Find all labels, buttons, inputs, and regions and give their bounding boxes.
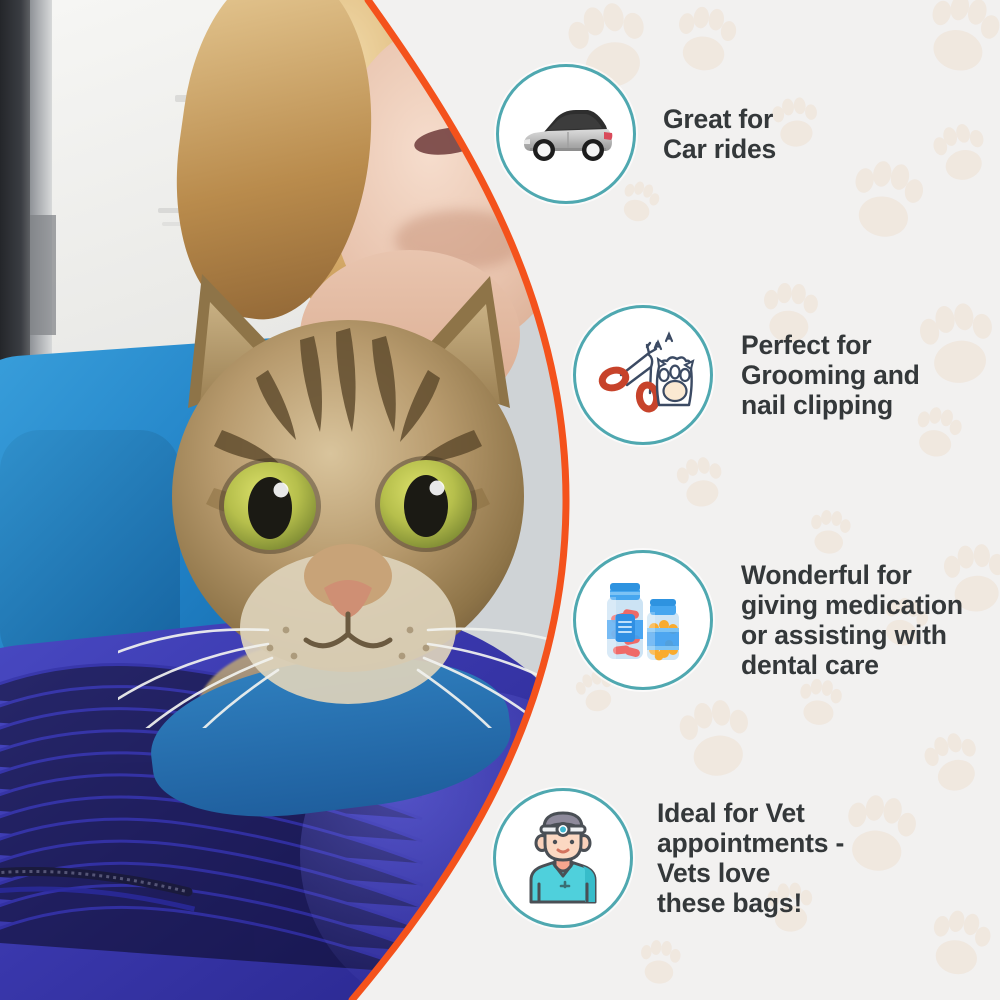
pill-bottles-icon xyxy=(591,568,695,672)
feature-icon-circle xyxy=(496,64,636,204)
feature-icon-circle xyxy=(493,788,633,928)
cat-photo-subject xyxy=(118,258,578,728)
feature-text: Wonderful for giving medication or assis… xyxy=(741,560,963,680)
feature-icon-circle xyxy=(573,305,713,445)
feature-text: Perfect for Grooming and nail clipping xyxy=(741,330,920,420)
infographic-canvas: Great for Car rides xyxy=(0,0,1000,1000)
feature-row-medication: Wonderful for giving medication or assis… xyxy=(573,550,963,690)
veterinarian-icon xyxy=(511,806,615,910)
feature-row-car-rides: Great for Car rides xyxy=(496,64,776,204)
car-icon xyxy=(514,82,618,186)
feature-icon-circle xyxy=(573,550,713,690)
feature-row-vet: Ideal for Vet appointments - Vets love t… xyxy=(493,788,844,928)
feature-text: Ideal for Vet appointments - Vets love t… xyxy=(657,798,844,918)
feature-row-grooming: Perfect for Grooming and nail clipping xyxy=(573,305,920,445)
nail-clippers-paw-icon xyxy=(591,323,695,427)
feature-text: Great for Car rides xyxy=(663,104,776,164)
photo-door-handle xyxy=(30,215,56,335)
